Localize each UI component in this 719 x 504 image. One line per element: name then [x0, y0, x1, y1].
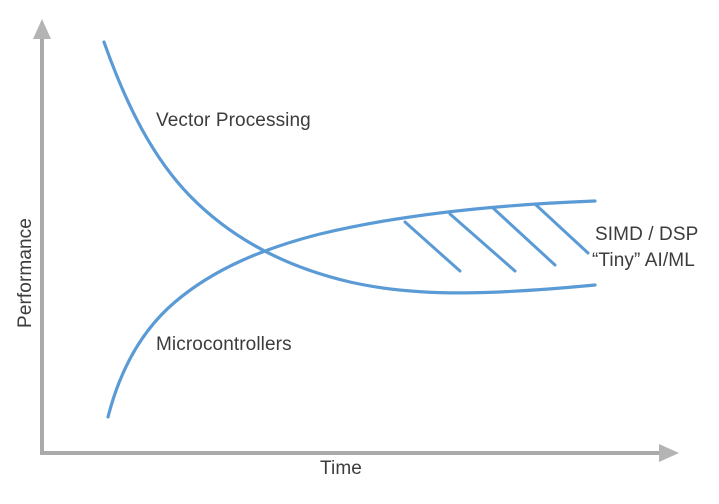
hatch-line-3	[493, 208, 555, 265]
annotation-microcontrollers: Microcontrollers	[156, 334, 292, 356]
x-axis-arrowhead	[659, 444, 679, 462]
curve-vector-processing	[104, 42, 595, 293]
x-axis-label: Time	[320, 458, 362, 480]
y-axis-arrowhead	[33, 19, 51, 39]
hatch-line-4	[535, 204, 588, 253]
y-axis-label: Performance	[15, 213, 37, 333]
hatch-line-1	[405, 222, 460, 271]
annotation-vector-processing: Vector Processing	[156, 110, 311, 132]
hatch-line-2	[450, 214, 515, 271]
chart-canvas: Vector Processing Microcontrollers SIMD …	[0, 0, 719, 504]
annotation-tiny-aiml: “Tiny” AI/ML	[592, 250, 695, 272]
annotation-simd-dsp: SIMD / DSP	[595, 224, 698, 246]
